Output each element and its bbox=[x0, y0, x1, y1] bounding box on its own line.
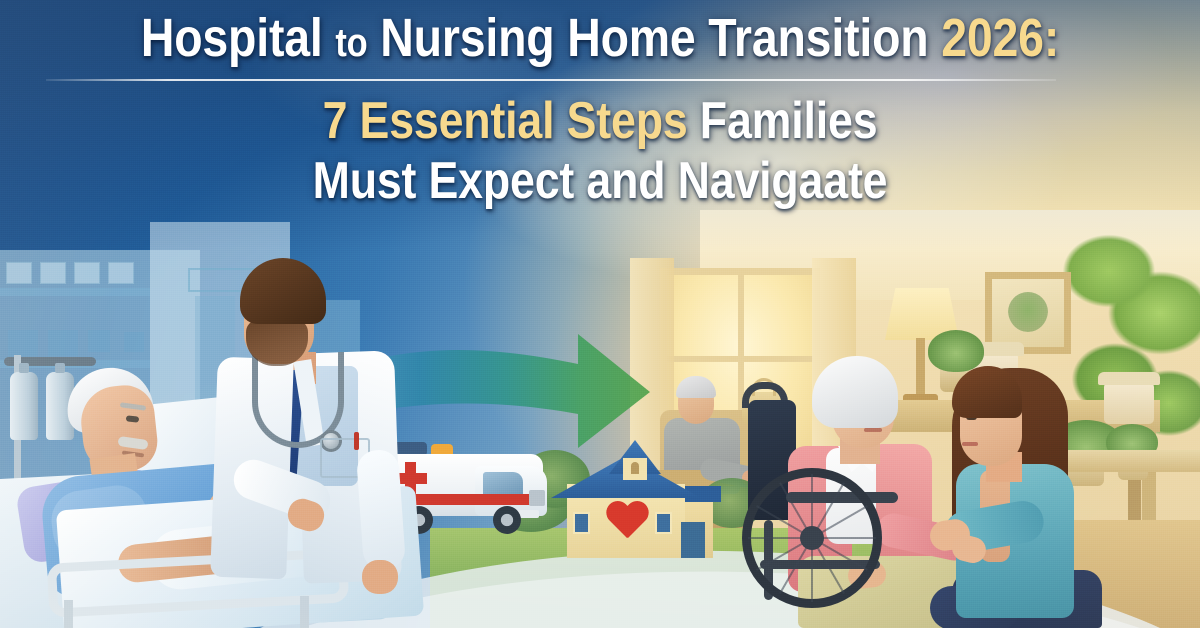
hospital-window bbox=[40, 262, 66, 284]
hospital-window bbox=[8, 330, 38, 356]
doctor-pen bbox=[354, 432, 359, 450]
oxygen-cylinder-left bbox=[10, 372, 38, 440]
patient-eye bbox=[126, 415, 140, 422]
hospital-facade-band-1 bbox=[0, 288, 150, 296]
hospital-window bbox=[48, 330, 78, 356]
wheelchair-hub bbox=[800, 526, 824, 550]
header-graphic: Hospital to Nursing Home Transition 2026… bbox=[0, 0, 1200, 628]
bed-leg-left bbox=[64, 600, 73, 628]
elderly-woman-mouth bbox=[864, 428, 882, 432]
title-divider-rule bbox=[46, 79, 1056, 81]
doctor-arm-right bbox=[356, 449, 406, 572]
hospital-window bbox=[108, 262, 134, 284]
hospital-window bbox=[74, 262, 100, 284]
bed-leg-right bbox=[300, 596, 309, 628]
family-member-mouth bbox=[962, 442, 978, 446]
hospital-window bbox=[88, 330, 110, 352]
hospital-window bbox=[124, 332, 144, 352]
hospital-window bbox=[6, 262, 32, 284]
doctor-hand-right bbox=[362, 560, 398, 594]
